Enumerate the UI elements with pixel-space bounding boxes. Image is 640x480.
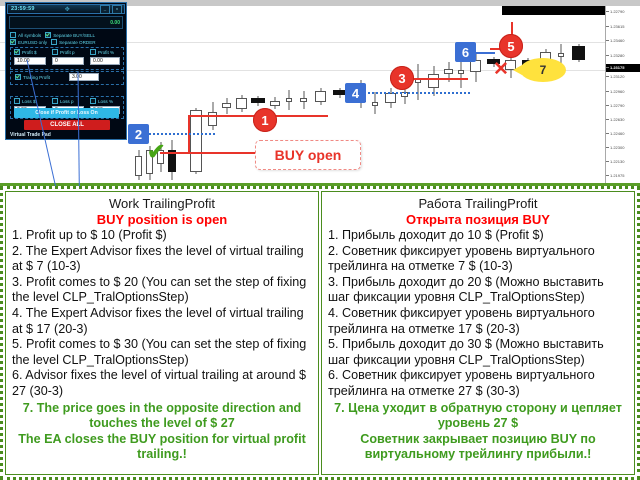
close-button[interactable]: x [112,5,122,14]
checkbox-label: All symbols [18,33,41,38]
candle [415,64,421,100]
price-tick: 1.22300 [606,144,640,152]
profit-dollar-input[interactable]: 10.00 [14,57,46,65]
candle [135,150,142,180]
pad-clock: 23:59:59 [8,6,35,12]
marker-4[interactable]: 4 [345,83,366,103]
checkbox-box-icon [52,98,58,104]
candle [222,98,231,114]
checkbox-label: EURUSD only [18,40,47,45]
candle [236,95,247,112]
checkbox-loss-percent[interactable]: Loss % [90,98,113,104]
candle [168,140,176,180]
panel-subtitle-ru: Открыта позиция BUY [328,212,628,227]
panel-line: 2. The Expert Advisor fixes the level of… [12,244,312,275]
field-label: Loss p [60,99,74,104]
panel-russian: Работа TrailingProfit Открыта позиция BU… [321,191,635,475]
equity-value: 0.00 [110,20,120,26]
price-tick: 1.22630 [606,116,640,124]
buy-open-callout[interactable]: BUY open [255,140,361,170]
marker-7-label: 7 [540,63,547,77]
checkbox-label: Separate BUY/SELL [53,33,95,38]
price-tick: 1.23120 [606,73,640,81]
panel-line: 5. Profit comes to $ 30 (You can set the… [12,337,312,368]
field-label: Profit $ [22,50,37,55]
virtual-trade-pad[interactable]: 23:59:59 ✥ _ x 0.00 All symbols Separate… [5,2,127,140]
panel-line: 4. The Expert Advisor fixes the level of… [12,306,312,337]
checkbox-box-icon [10,32,16,38]
checkbox-loss-dollar[interactable]: Loss $ [14,98,36,104]
panel-line: 5. Прибыль доходит до 30 $ (Можно выстав… [328,337,628,368]
position-open-icon[interactable]: ✔ [147,141,165,163]
balloon-tail [513,65,522,75]
field-label: Loss % [98,99,113,104]
panel-subtitle-en: BUY position is open [12,212,312,227]
pad-footer-label: Virtual Trade Pad [10,132,51,138]
checkbox-box-icon [15,74,21,80]
profit-points-input[interactable]: 0 [52,57,84,65]
panel-final-ru: 7. Цена уходит в обратную сторону и цепл… [328,401,628,463]
field-label: Loss $ [22,99,36,104]
price-tick: 1.22790 [606,102,640,110]
field-label: Profit p [60,50,75,55]
candle [251,96,265,106]
checkbox-eurusd-only[interactable]: EURUSD only [10,39,47,45]
explanation-panels: Work TrailingProfit BUY position is open… [0,186,640,480]
price-tick: 1.22790 [606,8,640,16]
minimize-button[interactable]: _ [100,5,110,14]
candle [300,91,307,109]
close-if-profit-or-loss-button[interactable]: Close if Profit or Loss On [14,108,119,118]
checkbox-label: Separate ORDER [59,40,96,45]
candle [372,92,378,114]
checkbox-box-icon [14,49,20,55]
price-tick: 1.22960 [606,88,640,96]
price-tick: 1.22460 [606,130,640,138]
checkbox-box-icon [51,39,57,45]
candle [572,44,585,62]
field-label: Profit % [98,50,114,55]
checkbox-box-icon [45,32,51,38]
trailing-profit-input[interactable]: 3.00 [69,73,99,81]
panel-line: 1. Profit up to $ 10 (Profit $) [12,228,312,244]
candle [385,88,396,108]
move-handle-icon[interactable]: ✥ [35,6,100,13]
checkbox-profit-percent[interactable]: Profit % [90,49,114,55]
panel-title-ru: Работа TrailingProfit [328,196,628,211]
candle [315,88,326,105]
panel-line: 4. Советник фиксирует уровень виртуально… [328,306,628,337]
checkbox-box-icon [10,39,16,45]
profit-level-line-3 [408,78,468,80]
panel-final-en: 7. The price goes in the opposite direct… [12,401,312,463]
price-tick: 1.23615 [606,23,640,31]
checkbox-box-icon [52,49,58,55]
candle [270,97,280,109]
panel-english: Work TrailingProfit BUY position is open… [5,191,319,475]
marker-3[interactable]: 3 [390,66,414,90]
marker-1[interactable]: 1 [253,108,277,132]
trailing-level-line-4 [352,92,470,94]
marker-2[interactable]: 2 [128,124,149,144]
price-tick: 1.22130 [606,158,640,166]
candle [286,90,292,110]
panel-line: 2. Советник фиксирует уровень виртуально… [328,244,628,275]
equity-strip: 0.00 [9,16,123,29]
panel-line: 6. Советник фиксирует уровень виртуально… [328,368,628,399]
marker-5[interactable]: 5 [499,34,523,58]
checkbox-box-icon [14,98,20,104]
trailing-level-line-2 [140,133,215,135]
pad-titlebar[interactable]: 23:59:59 ✥ _ x [7,4,125,14]
field-label: Trailing Profit [23,75,50,80]
panel-title-en: Work TrailingProfit [12,196,312,211]
checkbox-trailing-profit[interactable]: Trailing Profit [15,74,50,80]
panel-line: 3. Прибыль доходит до 20 $ (Можно выстав… [328,275,628,306]
checkbox-box-icon [90,49,96,55]
price-tick: 1.21975 [606,172,640,180]
profit-percent-input[interactable]: 0.00 [90,57,120,65]
price-scale[interactable]: 1.22790 1.23615 1.23460 1.23280 1.23175 … [605,6,640,184]
checkbox-loss-points[interactable]: Loss p [52,98,74,104]
marker-6[interactable]: 6 [455,42,476,62]
price-tick: 1.23460 [606,37,640,45]
panel-line: 1. Прибыль доходит до 10 $ (Profit $) [328,228,628,244]
current-price-tick: 1.23175 [606,64,640,72]
price-tick: 1.23280 [606,52,640,60]
position-close-icon[interactable]: ✕ [493,60,509,79]
marker-7-balloon[interactable]: 7 [520,58,566,82]
panel-line: 6. Advisor fixes the level of virtual tr… [12,368,312,399]
checkbox-profit-points[interactable]: Profit p [52,49,75,55]
candle [190,108,202,174]
checkbox-box-icon [90,98,96,104]
checkbox-all-symbols[interactable]: All symbols [10,32,41,38]
close-all-button[interactable]: CLOSE ALL [24,120,110,130]
checkbox-separate-buysell[interactable]: Separate BUY/SELL [45,32,95,38]
checkbox-profit-dollar[interactable]: Profit $ [14,49,37,55]
panel-line: 3. Profit comes to $ 20 (You can set the… [12,275,312,306]
checkbox-separate-order[interactable]: Separate ORDER [51,39,96,45]
